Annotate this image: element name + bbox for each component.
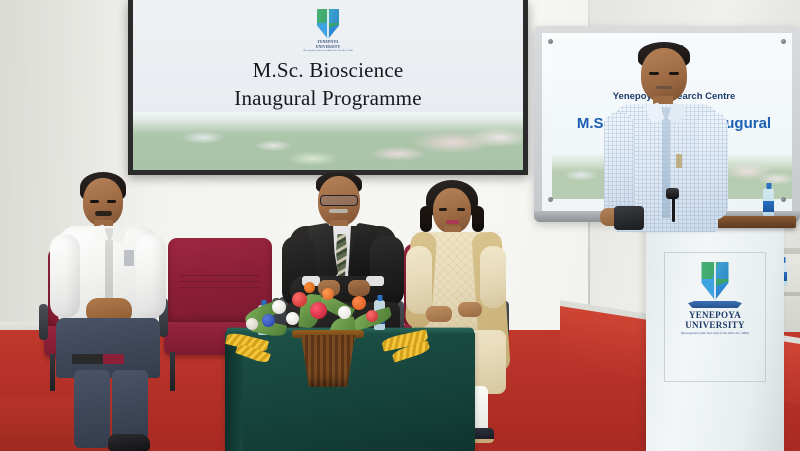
speaker-podium: YENEPOYA UNIVERSITY (Recognized under Se… (646, 226, 784, 451)
banner-logo-line1: YENEPOYA (302, 40, 354, 44)
banner-university-logo: YENEPOYA UNIVERSITY (Recognized under Se… (302, 9, 354, 53)
lips (446, 220, 459, 224)
hair-side-right (472, 206, 484, 232)
hair-side-left (420, 206, 432, 232)
hand-right (348, 280, 370, 296)
flower-red (366, 310, 378, 322)
water-bottle-tray (763, 188, 774, 218)
podium-logo-tagline: (Recognized under Sec 3(A) of the UGC Ac… (669, 332, 761, 336)
head (83, 178, 123, 226)
moustache (329, 209, 348, 213)
shirt-pocket-pen (124, 250, 134, 266)
whiteboard-screw-icon (548, 39, 553, 44)
microphone-stem (672, 196, 675, 222)
flower-orange (304, 282, 315, 293)
flower-red (292, 292, 307, 307)
flower-white (272, 300, 286, 314)
banner-surface: YENEPOYA UNIVERSITY (Recognized under Se… (133, 0, 523, 170)
podium-university-logo: YENEPOYA UNIVERSITY (Recognized under Se… (669, 262, 761, 336)
seated-man-white-shirt (50, 172, 170, 451)
arm-left (50, 234, 80, 318)
banner-title-line1: M.Sc. Bioscience (253, 58, 404, 82)
whiteboard-screw-icon (548, 197, 553, 202)
arm-right (136, 234, 166, 318)
seminar-hall-photo: YENEPOYA UNIVERSITY (Recognized under Se… (0, 0, 800, 451)
spectacles-icon (320, 195, 358, 206)
arm-right (480, 246, 506, 308)
shield-icon (315, 9, 341, 39)
flower-white (246, 318, 258, 330)
banner-title-line2: Inaugural Programme (133, 85, 523, 113)
head (641, 48, 687, 102)
shoe-right (108, 434, 150, 451)
flower-red (310, 302, 327, 319)
flower-white (338, 306, 351, 319)
podium-logo-line2: UNIVERSITY (669, 320, 761, 330)
banner-logo-tagline: (Recognized under Sec 3(A) of the UGC Ac… (302, 50, 354, 53)
arm-left (406, 246, 432, 314)
shield-icon (699, 262, 731, 300)
leg-left (74, 370, 110, 448)
podium-microphone (666, 188, 679, 199)
hand-right (458, 302, 482, 317)
flower-orange (322, 288, 334, 300)
podium-logo-line1: YENEPOYA (669, 310, 761, 320)
leg-right (112, 370, 148, 440)
hand-left (426, 306, 452, 322)
whiteboard-screw-icon (781, 39, 786, 44)
banner-photo-haze (133, 112, 523, 170)
ribbon-icon (688, 301, 742, 308)
banner-title-block: M.Sc. Bioscience Inaugural Programme (133, 57, 523, 112)
flower-white (286, 312, 299, 325)
arm-right (698, 112, 728, 220)
flower-blue (262, 314, 275, 327)
standing-speaker (608, 42, 724, 232)
framed-event-banner: YENEPOYA UNIVERSITY (Recognized under Se… (128, 0, 528, 175)
flower-orange (352, 296, 366, 310)
shirt-pocket-pen (676, 154, 682, 168)
head-table-side (225, 340, 243, 451)
belt (72, 354, 124, 364)
lap-trousers (56, 318, 160, 378)
handheld-device (614, 206, 644, 230)
head (318, 176, 360, 226)
whiteboard-screw-icon (781, 197, 786, 202)
